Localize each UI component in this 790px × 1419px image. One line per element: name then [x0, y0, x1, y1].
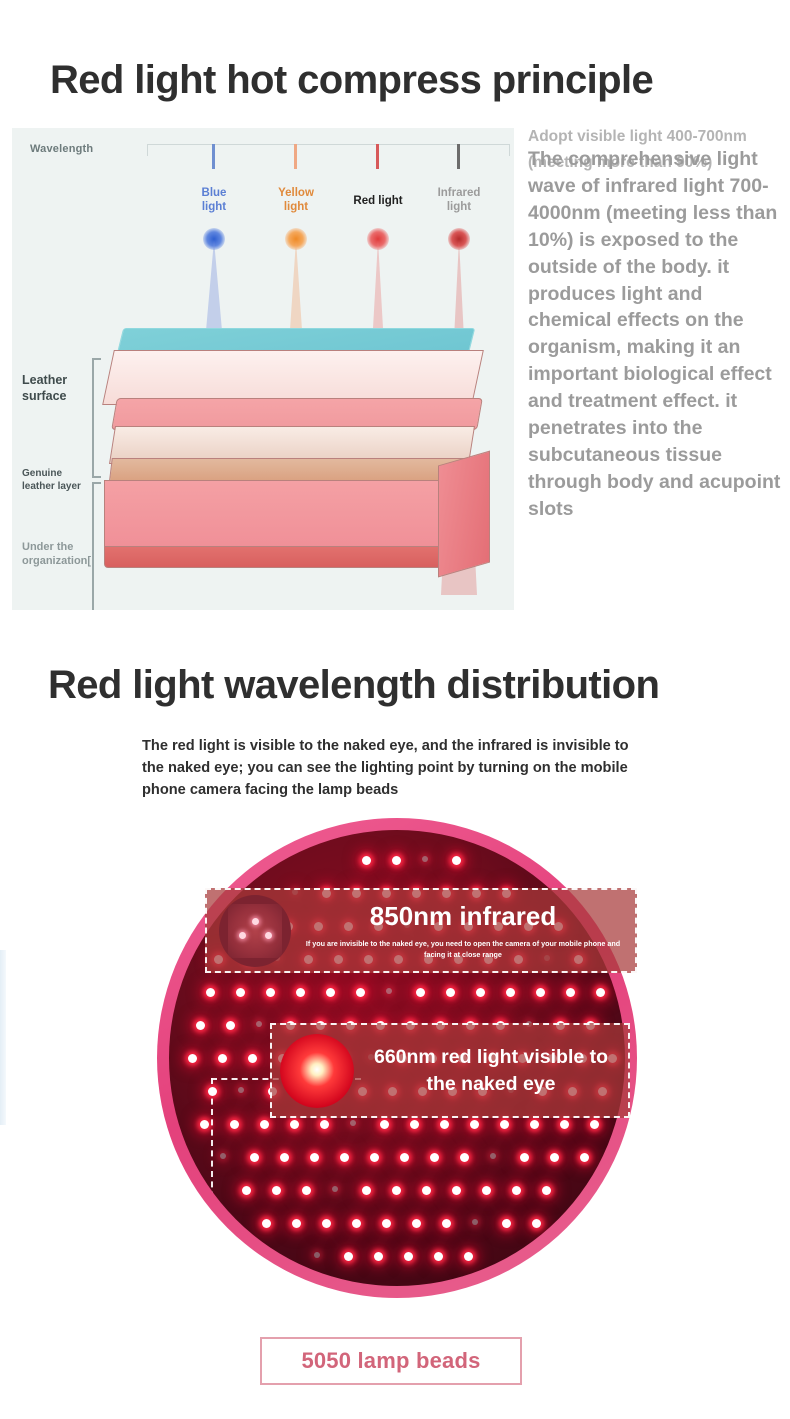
led-dot [580, 1153, 589, 1162]
led-dot [404, 1252, 413, 1261]
paragraph-infrared-light: The comprehensive light wave of infrared… [528, 146, 786, 523]
led-dot [532, 1219, 541, 1228]
led-dot [332, 1186, 338, 1192]
ir-dot-left [239, 932, 246, 939]
layer-label-leather-surface: Leathersurface [22, 373, 67, 404]
wavelength-axis [147, 144, 510, 156]
ir-dot-center [252, 918, 259, 925]
led-dot [452, 856, 461, 865]
led-dot [392, 1186, 401, 1195]
led-dot [536, 988, 545, 997]
left-edge-stripe [0, 950, 6, 1125]
led-dot [302, 1186, 311, 1195]
beam-label-infrared: Infraredlight [424, 186, 494, 215]
callout-infrared-text: 850nm infrared If you are invisible to t… [291, 901, 635, 961]
section2-title: Red light wavelength distribution [48, 663, 659, 708]
led-dot [460, 1153, 469, 1162]
infrared-chip [228, 904, 282, 958]
led-dot [242, 1186, 251, 1195]
led-dot [230, 1120, 239, 1129]
led-dot [320, 1120, 329, 1129]
callout-infrared-sub: If you are invisible to the naked eye, y… [291, 939, 635, 961]
led-dot [452, 1186, 461, 1195]
infographic-page: Red light hot compress principle Wavelen… [0, 0, 790, 1419]
red-led-thumbnail [280, 1034, 354, 1108]
led-dot [350, 1120, 356, 1126]
skin-penetration-diagram: Wavelength Bluelight Yellowlight Red lig… [12, 128, 514, 610]
led-panel-photo: 850nm infrared If you are invisible to t… [157, 818, 637, 1298]
principle-text-block: Adopt visible light 400-700nm (meeting m… [528, 124, 780, 614]
led-dot [566, 988, 575, 997]
led-dot [472, 1219, 478, 1225]
led-dot [596, 988, 605, 997]
led-dot [382, 1219, 391, 1228]
led-dot [422, 856, 428, 862]
led-dot [482, 1186, 491, 1195]
led-dot [296, 988, 305, 997]
beam-label-yellow: Yellowlight [261, 186, 331, 215]
led-dot [470, 1120, 479, 1129]
led-dot [440, 1120, 449, 1129]
led-dot [416, 988, 425, 997]
wavelength-axis-label: Wavelength [30, 143, 93, 155]
tick-infrared [457, 144, 460, 169]
led-dot [370, 1153, 379, 1162]
lamp-beads-badge-label: 5050 lamp beads [301, 1348, 480, 1374]
led-dot [520, 1153, 529, 1162]
led-dot [430, 1153, 439, 1162]
led-dot [206, 988, 215, 997]
led-dot [362, 856, 371, 865]
callout-red-heading: 660nm red light visible to the naked eye [354, 1044, 628, 1097]
led-dot [220, 1153, 226, 1159]
led-dot [260, 1120, 269, 1129]
led-dot [412, 1219, 421, 1228]
led-dot [410, 1120, 419, 1129]
bracket-leather-surface [92, 358, 101, 478]
section1-title: Red light hot compress principle [50, 58, 653, 103]
led-dot [188, 1054, 197, 1063]
callout-infrared-heading: 850nm infrared [291, 901, 635, 932]
led-dot [266, 988, 275, 997]
led-dot [196, 1021, 205, 1030]
callout-infrared: 850nm infrared If you are invisible to t… [205, 888, 637, 973]
led-dot [502, 1219, 511, 1228]
led-dot [248, 1054, 257, 1063]
led-dot [340, 1153, 349, 1162]
led-dot [218, 1054, 227, 1063]
led-dot [386, 988, 392, 994]
led-dot [506, 988, 515, 997]
led-dot [326, 988, 335, 997]
led-dot [310, 1153, 319, 1162]
led-dot [352, 1219, 361, 1228]
led-dot [280, 1153, 289, 1162]
led-dot [446, 988, 455, 997]
skin-slab-epidermis [102, 350, 484, 405]
led-dot [356, 988, 365, 997]
led-dot [550, 1153, 559, 1162]
led-dot [290, 1120, 299, 1129]
led-dot [542, 1186, 551, 1195]
led-dot [292, 1219, 301, 1228]
led-dot [434, 1252, 443, 1261]
led-dot [490, 1153, 496, 1159]
led-dot [272, 1186, 281, 1195]
led-dot [442, 1219, 451, 1228]
tick-yellow [294, 144, 297, 169]
skin-slab-side-face [438, 451, 490, 578]
led-dot [380, 1120, 389, 1129]
led-dot [262, 1219, 271, 1228]
tick-blue [212, 144, 215, 169]
led-dot [560, 1120, 569, 1129]
red-led-chip [280, 1034, 354, 1108]
beam-label-blue: Bluelight [179, 186, 249, 215]
callout-red-light: 660nm red light visible to the naked eye [270, 1023, 630, 1118]
infrared-led-thumbnail [219, 895, 291, 967]
led-dot [512, 1186, 521, 1195]
led-dot [256, 1021, 262, 1027]
led-dot [322, 1219, 331, 1228]
lamp-beads-badge: 5050 lamp beads [260, 1337, 522, 1385]
bracket-genuine-leather [92, 482, 101, 610]
section2-subtitle: The red light is visible to the naked ey… [142, 735, 652, 802]
tick-red [376, 144, 379, 169]
led-dot [236, 988, 245, 997]
led-dot [464, 1252, 473, 1261]
led-dot [530, 1120, 539, 1129]
callout-red-text: 660nm red light visible to the naked eye [354, 1044, 628, 1097]
led-dot [500, 1120, 509, 1129]
led-dot [374, 1252, 383, 1261]
led-dot [226, 1021, 235, 1030]
led-dot [392, 856, 401, 865]
led-dot [250, 1153, 259, 1162]
led-dot [476, 988, 485, 997]
led-dot [344, 1252, 353, 1261]
led-dot [422, 1186, 431, 1195]
led-dot [238, 1087, 244, 1093]
guide-line-vertical [211, 1078, 213, 1208]
layer-label-under-organization: Under theorganization[ [22, 541, 91, 569]
layer-label-genuine-leather: Genuineleather layer [22, 468, 81, 493]
led-dot [314, 1252, 320, 1258]
led-dot [400, 1153, 409, 1162]
led-dot [590, 1120, 599, 1129]
ir-dot-right [265, 932, 272, 939]
beam-label-red: Red light [338, 194, 418, 208]
skin-slab-muscle [104, 546, 456, 568]
led-dot [362, 1186, 371, 1195]
skin-layer-stack [100, 328, 490, 608]
led-dot [200, 1120, 209, 1129]
skin-slab-hypodermis [104, 480, 456, 552]
